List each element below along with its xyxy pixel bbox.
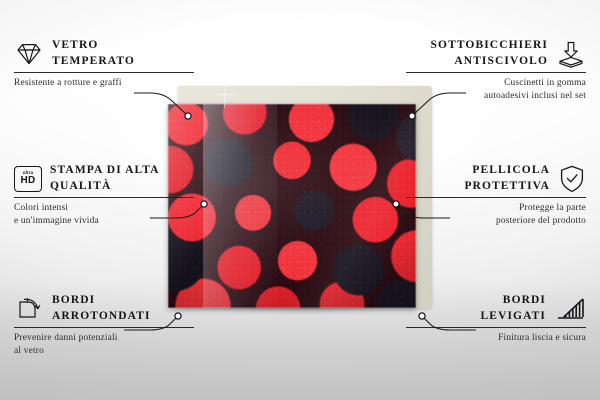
feature-sottobicchieri-antiscivolo: SOTTOBICCHIERI ANTISCIVOLO Cuscinetti in… <box>406 38 586 102</box>
feature-underline <box>14 72 194 73</box>
feature-underline <box>14 327 194 328</box>
feature-title-line2: PROTETTIVA <box>464 179 550 195</box>
feature-title-line2: TEMPERATO <box>52 54 135 70</box>
shield-check-icon <box>558 164 586 194</box>
feature-underline <box>14 197 194 198</box>
feature-stampa-alta-qualita: ultra HD STAMPA DI ALTA QUALITÀ Colori i… <box>14 163 194 227</box>
feature-bordi-arrotondati: BORDI ARROTONDATI Prevenire danni potenz… <box>14 293 194 357</box>
diamond-icon <box>14 41 44 67</box>
feature-subtitle-line2: autoadesivi inclusi nel set <box>406 90 586 103</box>
feature-title-line2: LEVIGATI <box>481 309 546 325</box>
feature-title-line1: STAMPA DI ALTA <box>50 163 160 179</box>
feature-subtitle-line1: Protegge la parte <box>406 202 586 215</box>
feature-title-line1: PELLICOLA <box>464 163 550 179</box>
feature-underline <box>406 197 586 198</box>
ultra-hd-icon: ultra HD <box>14 166 42 192</box>
hatched-triangle-icon <box>554 296 586 322</box>
feature-title-line1: VETRO <box>52 38 135 54</box>
feature-title-line2: ARROTONDATI <box>52 309 151 325</box>
feature-subtitle-line1: Cuscinetti in gomma <box>406 77 586 90</box>
feature-underline <box>406 72 586 73</box>
feature-subtitle-line1: Finitura liscia e sicura <box>406 332 586 345</box>
feature-subtitle-line1: Prevenire danni potenziali <box>14 332 194 345</box>
feature-bordi-levigati: BORDI LEVIGATI Finitura liscia e sicura <box>406 293 586 345</box>
connector-node-middle-right <box>393 201 399 207</box>
feature-subtitle-line2: posteriore del prodotto <box>406 215 586 228</box>
feature-pellicola-protettiva: PELLICOLA PROTETTIVA Protegge la parte p… <box>406 163 586 227</box>
rounded-corner-icon <box>14 296 44 322</box>
connector-node-top-left <box>185 113 191 119</box>
infographic-canvas: VETRO TEMPERATO Resistente a rotture e g… <box>0 0 600 400</box>
feature-title-line1: SOTTOBICCHIERI <box>431 38 548 54</box>
feature-subtitle-line1: Colori intensi <box>14 202 194 215</box>
feature-subtitle-line2: e un'immagine vivida <box>14 215 194 228</box>
connector-node-middle-left <box>201 201 207 207</box>
feature-title-line2: QUALITÀ <box>50 179 160 195</box>
feature-subtitle-line1: Resistente a rotture e graffi <box>14 77 194 90</box>
feature-title-line1: BORDI <box>481 293 546 309</box>
ultra-hd-icon-main-label: HD <box>20 176 35 186</box>
feature-title-line1: BORDI <box>52 293 151 309</box>
feature-subtitle-line2: al vetro <box>14 345 194 358</box>
feature-vetro-temperato: VETRO TEMPERATO Resistente a rotture e g… <box>14 38 194 90</box>
anti-slip-pad-icon <box>556 40 586 68</box>
connector-line-top-left <box>134 93 186 114</box>
feature-title-line2: ANTISCIVOLO <box>431 54 548 70</box>
connector-node-top-right <box>409 113 415 119</box>
feature-underline <box>406 327 586 328</box>
